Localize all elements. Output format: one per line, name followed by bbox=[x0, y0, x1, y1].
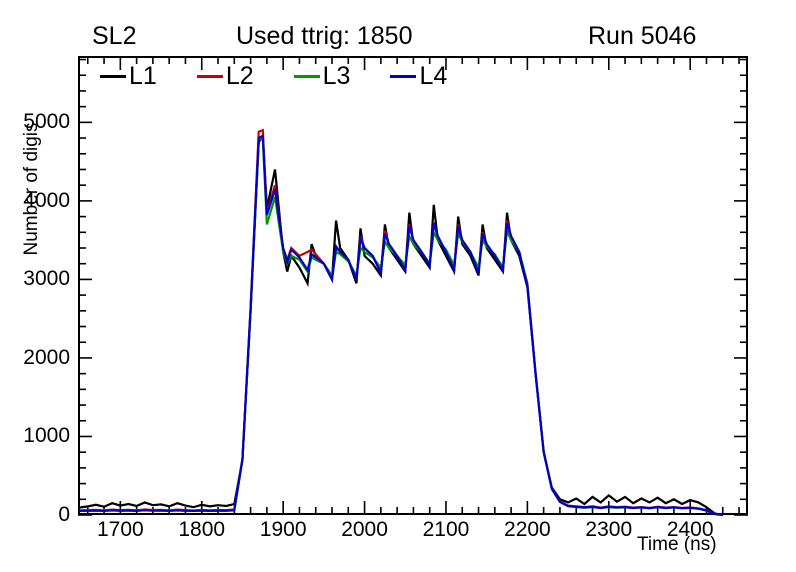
y-tick-label: 3000 bbox=[6, 267, 70, 291]
plot-canvas: SL2 Used ttrig: 1850 Run 5046 Number of … bbox=[0, 0, 796, 572]
sl-label: SL2 bbox=[92, 22, 136, 51]
legend-swatch-icon bbox=[197, 75, 223, 78]
y-tick-label: 0 bbox=[6, 503, 70, 527]
plot-frame bbox=[78, 56, 748, 515]
legend-entry-l3: L3 bbox=[294, 64, 351, 89]
y-tick-label: 2000 bbox=[6, 346, 70, 370]
legend-label: L4 bbox=[419, 64, 447, 89]
legend-swatch-icon bbox=[294, 75, 320, 78]
legend-entry-l1: L1 bbox=[100, 64, 157, 89]
x-tick-label: 2100 bbox=[401, 518, 491, 542]
x-tick-label: 2000 bbox=[320, 518, 410, 542]
legend-label: L3 bbox=[323, 64, 351, 89]
x-tick-label: 2400 bbox=[645, 518, 735, 542]
legend: L1L2L3L4 bbox=[100, 64, 447, 89]
legend-label: L1 bbox=[129, 64, 157, 89]
legend-swatch-icon bbox=[100, 75, 126, 78]
y-tick-label: 5000 bbox=[6, 110, 70, 134]
x-tick-label: 2300 bbox=[564, 518, 654, 542]
x-tick-label: 2200 bbox=[482, 518, 572, 542]
legend-swatch-icon bbox=[390, 75, 416, 78]
y-tick-label: 4000 bbox=[6, 189, 70, 213]
legend-entry-l4: L4 bbox=[390, 64, 447, 89]
y-tick-label: 1000 bbox=[6, 424, 70, 448]
legend-entry-l2: L2 bbox=[197, 64, 254, 89]
ttrig-label: Used ttrig: 1850 bbox=[236, 22, 413, 51]
legend-label: L2 bbox=[226, 64, 254, 89]
x-tick-label: 1800 bbox=[157, 518, 247, 542]
run-label: Run 5046 bbox=[588, 22, 696, 51]
x-tick-label: 1700 bbox=[75, 518, 165, 542]
x-tick-label: 1900 bbox=[238, 518, 328, 542]
